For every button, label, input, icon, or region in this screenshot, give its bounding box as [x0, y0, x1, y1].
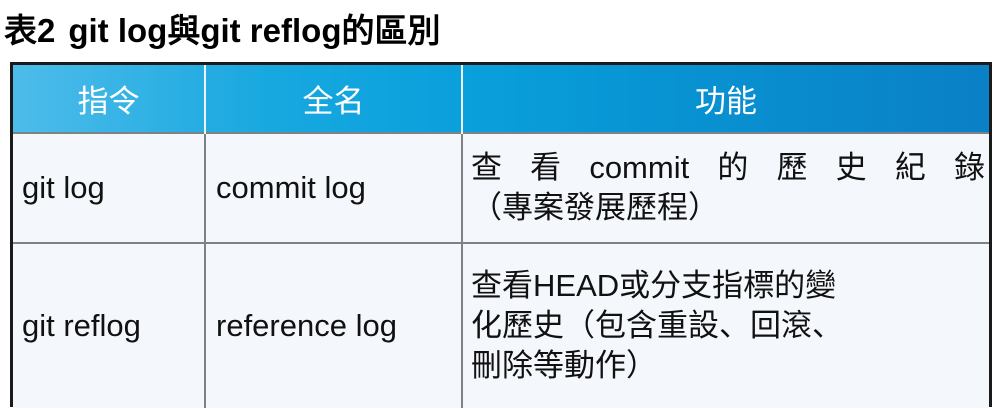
table-body: git log commit log 查看commit的歷史紀錄 （專案發展歷程… — [13, 133, 989, 408]
table-caption-text: git log與git reflog的區別 — [68, 4, 440, 52]
column-header-full-name-label: 全名 — [303, 76, 365, 121]
cell-command-git-reflog: git reflog — [13, 243, 205, 408]
column-header-function-label: 功能 — [695, 76, 757, 121]
table-caption-number: 表2 — [4, 4, 55, 52]
cell-command-git-log: git log — [13, 133, 205, 243]
cell-full-name-commit-log: commit log — [205, 133, 462, 243]
table-caption: 表2 git log與git reflog的區別 — [4, 3, 440, 53]
comparison-table-container: 指令 全名 功能 git log commit log 查看commit的歷史紀… — [10, 62, 992, 407]
column-header-full-name: 全名 — [205, 65, 462, 133]
cell-function-git-log: 查看commit的歷史紀錄 （專案發展歷程） — [462, 133, 989, 243]
column-header-function: 功能 — [462, 65, 989, 133]
table-figure: 表2 git log與git reflog的區別 指令 全名 功能 — [0, 0, 1000, 413]
column-header-command-label: 指令 — [78, 76, 140, 121]
table-header: 指令 全名 功能 — [13, 65, 989, 133]
table-row: git reflog reference log 查看HEAD或分支指標的變 化… — [13, 243, 989, 408]
cell-function-git-reflog: 查看HEAD或分支指標的變 化歷史（包含重設、回滾、 刪除等動作） — [462, 243, 989, 408]
cell-function-git-reflog-line-3: 刪除等動作） — [471, 346, 985, 386]
table-row: git log commit log 查看commit的歷史紀錄 （專案發展歷程… — [13, 133, 989, 243]
column-header-command: 指令 — [13, 65, 205, 133]
cell-full-name-reference-log: reference log — [205, 243, 462, 408]
cell-function-git-reflog-line-2: 化歷史（包含重設、回滾、 — [471, 306, 985, 346]
table-header-row: 指令 全名 功能 — [13, 65, 989, 133]
cell-function-git-log-line-2: （專案發展歷程） — [471, 188, 985, 228]
cell-function-git-reflog-line-1: 查看HEAD或分支指標的變 — [471, 266, 985, 306]
comparison-table: 指令 全名 功能 git log commit log 查看commit的歷史紀… — [13, 65, 989, 408]
cell-function-git-log-line-1: 查看commit的歷史紀錄 — [471, 148, 985, 188]
